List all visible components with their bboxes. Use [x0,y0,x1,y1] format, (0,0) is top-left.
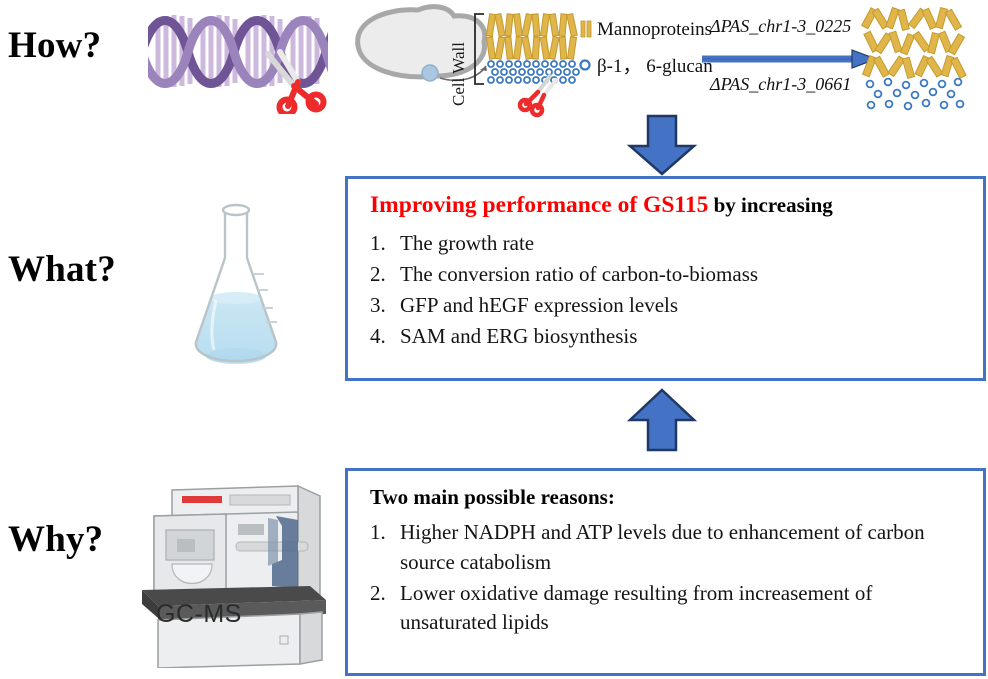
what-panel-list: 1. The growth rate 2. The conversion rat… [370,230,965,351]
mannoprotein-layer-mutant [862,8,966,79]
list-item-text: The growth rate [400,230,965,258]
gcms-caption: GC-MS [156,600,242,629]
what-panel-title: Improving performance of GS115 by increa… [370,193,965,219]
legend-glucan-label: β-1， 6-glucan [597,56,713,77]
flow-arrow-up [616,388,708,458]
cell-wall-label: Cell Wall [449,42,468,106]
erlenmeyer-flask-icon [170,190,320,375]
why-panel-list: 1. Higher NADPH and ATP levels due to en… [370,518,965,638]
what-panel-title-black: by increasing [708,193,832,217]
list-item: 4. SAM and ERG biosynthesis [370,323,965,351]
knockout-label-top: ΔPAS_chr1-3_0225 [709,16,851,36]
list-item-number: 3. [370,292,400,320]
list-item-text: Lower oxidative damage resulting from in… [400,579,965,639]
list-item-number: 4. [370,323,400,351]
flow-arrow-down [616,114,708,176]
knockout-label-bottom: ΔPAS_chr1-3_0661 [709,74,851,94]
list-item-text: GFP and hEGF expression levels [400,292,965,320]
list-item: 2. Lower oxidative damage resulting from… [370,579,965,639]
glucan-layer-wt [488,61,579,83]
graphical-abstract: How? What? Why? [0,0,988,679]
list-item-text: SAM and ERG biosynthesis [400,323,965,351]
list-item: 3. GFP and hEGF expression levels [370,292,965,320]
list-item: 1. The growth rate [370,230,965,258]
glucan-layer-mutant [867,79,964,110]
legend-mannoproteins: Mannoproteins [581,19,712,40]
list-item-number: 2. [370,261,400,289]
gcms-instrument-icon [120,468,336,668]
what-panel: Improving performance of GS115 by increa… [345,176,986,381]
list-item-text: Higher NADPH and ATP levels due to enhan… [400,518,965,578]
row-label-why: Why? [8,518,103,561]
list-item-text: The conversion ratio of carbon-to-biomas… [400,261,965,289]
list-item: 1. Higher NADPH and ATP levels due to en… [370,518,965,578]
row-label-how: How? [8,24,101,67]
list-item-number: 1. [370,230,400,258]
why-panel: Two main possible reasons: 1. Higher NAD… [345,468,986,676]
legend-glucan: β-1， 6-glucan [581,56,714,77]
row-label-what: What? [8,248,116,291]
mannoprotein-layer [486,14,577,60]
list-item-number: 2. [370,579,400,609]
what-panel-title-red: Improving performance of GS115 [370,192,708,218]
list-item: 2. The conversion ratio of carbon-to-bio… [370,261,965,289]
list-item-number: 1. [370,518,400,548]
why-panel-title: Two main possible reasons: [370,485,965,510]
dna-helix-icon [148,2,328,114]
reaction-arrow-right [702,50,876,68]
legend-mannoproteins-label: Mannoproteins [597,19,712,40]
cell-wall-schematic: Cell Wall [344,0,988,120]
